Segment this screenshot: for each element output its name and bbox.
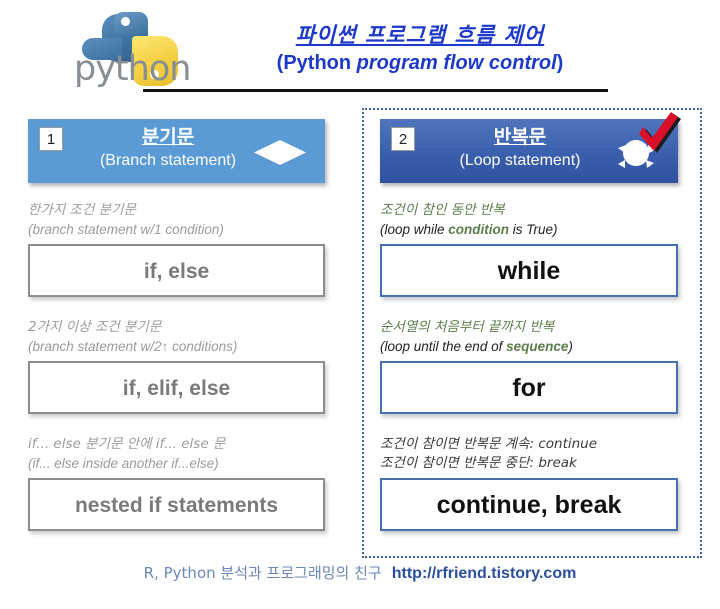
loop-item-2-code-box[interactable]: for xyxy=(380,361,678,414)
loop-panel-title: 반복문 (Loop statement) xyxy=(420,126,620,172)
loop-panel-number-badge: 2 xyxy=(391,127,415,151)
branch-item-2-caption-english: (branch statement w/2↑ conditions) xyxy=(28,337,325,356)
loop-item-2-caption: 순서열의 처음부터 끝까지 반복 (loop until the end of … xyxy=(380,318,678,356)
loop-item-continue-break: 조건이 참이면 반복문 계속: continue 조건이 참이면 반복문 중단:… xyxy=(380,435,678,531)
loop-item-3-caption-line2: 조건이 참이면 반복문 중단: break xyxy=(380,454,678,473)
loop-item-1-caption-keyword: condition xyxy=(448,222,509,237)
slide-header: python 파이썬 프로그램 흐름 제어 (Python program fl… xyxy=(0,0,720,100)
loop-item-3-code-box[interactable]: continue, break xyxy=(380,478,678,531)
branch-item-2-caption: 2가지 이상 조건 분기문 (branch statement w/2↑ con… xyxy=(28,318,325,356)
branch-item-if-elif-else: 2가지 이상 조건 분기문 (branch statement w/2↑ con… xyxy=(28,318,325,414)
branch-item-2-caption-korean: 2가지 이상 조건 분기문 xyxy=(28,318,325,337)
footer-url-link[interactable]: http://rfriend.tistory.com xyxy=(392,565,577,582)
page-title-korean: 파이썬 프로그램 흐름 제어 xyxy=(190,22,650,48)
header-divider-rule xyxy=(143,89,608,92)
python-logo-blue-head xyxy=(114,12,148,34)
branch-statement-panel: 1 분기문 (Branch statement) 한가지 조건 분기문 (bra… xyxy=(20,108,337,558)
branch-item-3-caption: if... else 분기문 안에 if... else 문 (if... el… xyxy=(28,435,325,473)
loop-item-2-caption-post: ) xyxy=(568,339,573,354)
branch-item-3-code-box[interactable]: nested if statements xyxy=(28,478,325,531)
loop-item-3-caption: 조건이 참이면 반복문 계속: continue 조건이 참이면 반복문 중단:… xyxy=(380,435,678,473)
branch-item-2-code-box[interactable]: if, elif, else xyxy=(28,361,325,414)
branch-panel-number-badge: 1 xyxy=(39,127,63,151)
title-en-prefix: (Python xyxy=(277,52,357,74)
footer-tagline: R, Python 분석과 프로그래밍의 친구 xyxy=(144,564,382,582)
page-title-english: (Python program flow control) xyxy=(190,50,650,76)
red-check-icon xyxy=(632,109,684,161)
python-logo-icon: python xyxy=(74,12,206,94)
loop-item-1-caption-english: (loop while condition is True) xyxy=(380,220,678,239)
python-wordmark: python xyxy=(74,52,190,87)
loop-panel-header: 2 반복문 (Loop statement) xyxy=(380,119,678,183)
loop-item-1-caption-post: is True) xyxy=(509,222,558,237)
loop-item-for: 순서열의 처음부터 끝까지 반복 (loop until the end of … xyxy=(380,318,678,414)
loop-item-while: 조건이 참인 동안 반복 (loop while condition is Tr… xyxy=(380,201,678,297)
branch-panel-title-korean: 분기문 xyxy=(68,126,268,150)
branch-panel-title: 분기문 (Branch statement) xyxy=(68,126,268,172)
loop-item-2-caption-english: (loop until the end of sequence) xyxy=(380,337,678,356)
branch-item-nested-if: if... else 분기문 안에 if... else 문 (if... el… xyxy=(28,435,325,531)
loop-item-1-caption: 조건이 참인 동안 반복 (loop while condition is Tr… xyxy=(380,201,678,239)
branch-panel-title-english: (Branch statement) xyxy=(68,151,268,172)
title-en-emphasis: program flow control xyxy=(357,52,557,74)
branch-item-1-caption: 한가지 조건 분기문 (branch statement w/1 conditi… xyxy=(28,201,325,239)
loop-statement-panel: 2 반복문 (Loop statement) 조건이 참인 동안 반복 (l xyxy=(362,108,702,558)
branch-panel-header: 1 분기문 (Branch statement) xyxy=(28,119,325,183)
branch-item-3-caption-english: (if... else inside another if...else) xyxy=(28,454,325,473)
loop-item-2-caption-korean: 순서열의 처음부터 끝까지 반복 xyxy=(380,318,678,337)
loop-panel-title-english: (Loop statement) xyxy=(420,151,620,172)
python-logo-blue-eye xyxy=(121,17,130,26)
loop-item-1-caption-pre: (loop while xyxy=(380,222,448,237)
loop-item-1-caption-korean: 조건이 참인 동안 반복 xyxy=(380,201,678,220)
branch-item-1-caption-korean: 한가지 조건 분기문 xyxy=(28,201,325,220)
branch-item-1-code-box[interactable]: if, else xyxy=(28,244,325,297)
branch-item-1-caption-english: (branch statement w/1 condition) xyxy=(28,220,325,239)
slide-canvas: python 파이썬 프로그램 흐름 제어 (Python program fl… xyxy=(0,0,720,609)
loop-item-3-caption-line1: 조건이 참이면 반복문 계속: continue xyxy=(380,435,678,454)
branch-item-3-caption-korean: if... else 분기문 안에 if... else 문 xyxy=(28,435,325,454)
page-title: 파이썬 프로그램 흐름 제어 (Python program flow cont… xyxy=(190,22,650,76)
title-en-suffix: ) xyxy=(557,52,564,74)
branch-item-if-else: 한가지 조건 분기문 (branch statement w/1 conditi… xyxy=(28,201,325,297)
diamond-decision-icon xyxy=(253,139,307,166)
loop-panel-title-korean: 반복문 xyxy=(420,126,620,150)
loop-item-2-caption-pre: (loop until the end of xyxy=(380,339,506,354)
footer: R, Python 분석과 프로그래밍의 친구http://rfriend.ti… xyxy=(0,562,720,583)
loop-item-1-code-box[interactable]: while xyxy=(380,244,678,297)
loop-item-2-caption-keyword: sequence xyxy=(506,339,568,354)
